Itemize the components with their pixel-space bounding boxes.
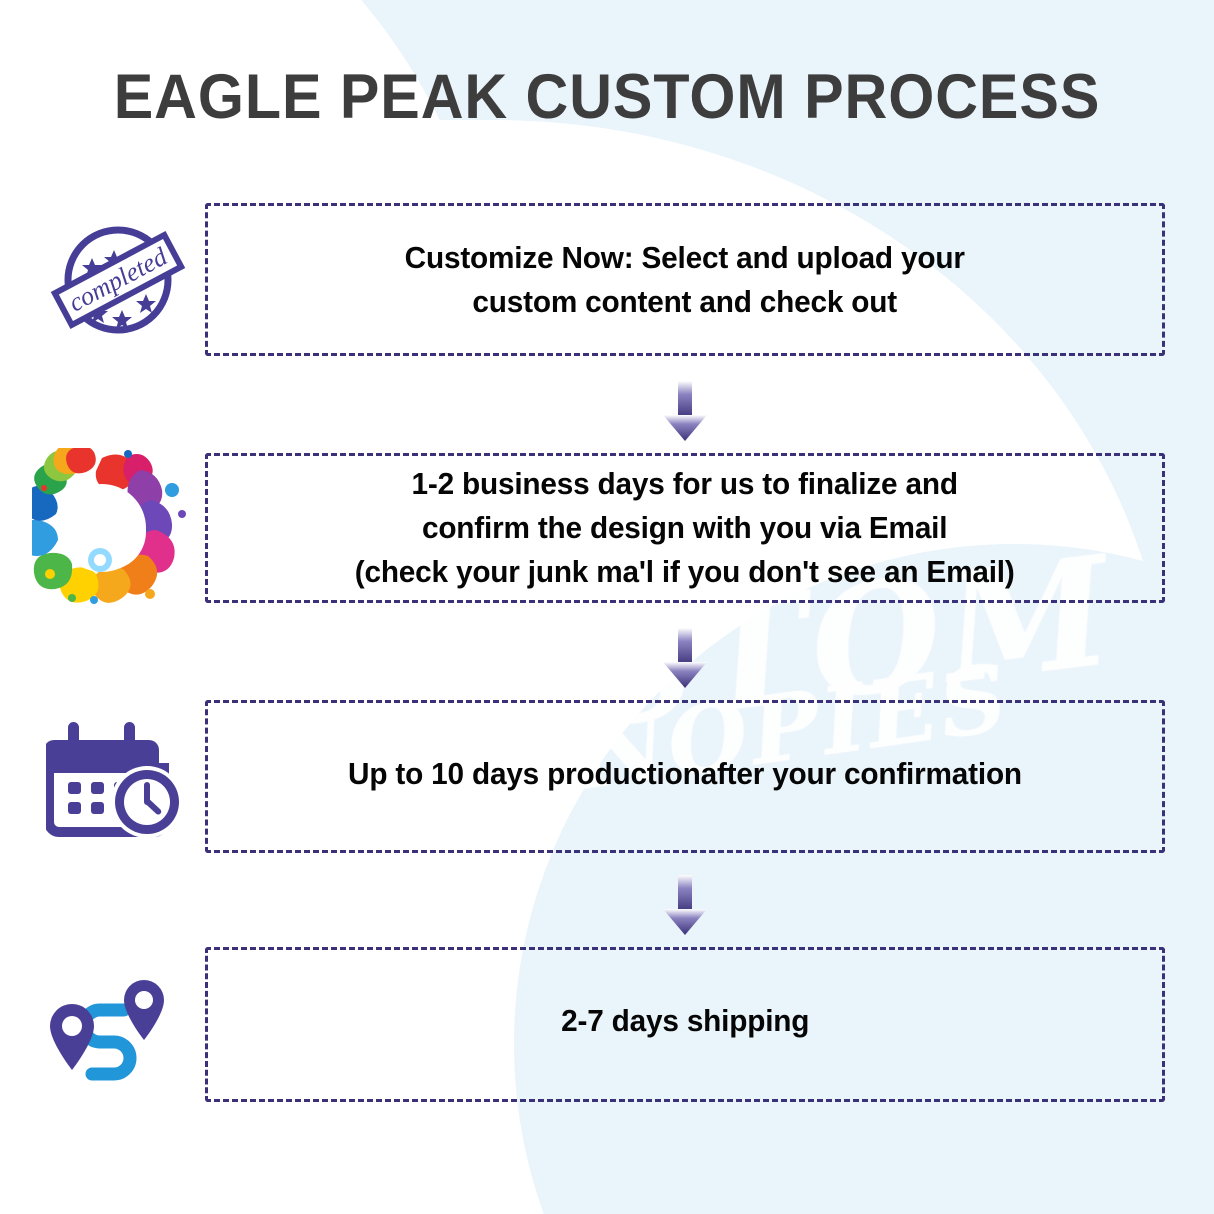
infographic-canvas: CUSTOM CANOPIES EAGLE PEAK CUSTOM PROCES… bbox=[0, 0, 1214, 1214]
step-3-box: Up to 10 days productionafter your confi… bbox=[205, 700, 1165, 853]
page-title: EAGLE PEAK CUSTOM PROCESS bbox=[36, 62, 1177, 132]
step-4-box: 2-7 days shipping bbox=[205, 947, 1165, 1102]
completed-stamp-icon: completed bbox=[48, 218, 188, 342]
paint-splatter-icon bbox=[32, 448, 204, 614]
step-4-text: 2-7 days shipping bbox=[544, 999, 827, 1043]
arrow-down-icon-2 bbox=[658, 628, 712, 688]
step-1-text: Customize Now: Select and upload your cu… bbox=[388, 236, 983, 324]
shipping-route-icon bbox=[44, 978, 184, 1090]
step-3-text: Up to 10 days productionafter your confi… bbox=[331, 752, 1039, 796]
step-2-box: 1-2 business days for us to finalize and… bbox=[205, 453, 1165, 603]
arrow-down-icon-1 bbox=[658, 381, 712, 441]
arrow-down-icon-3 bbox=[658, 875, 712, 935]
calendar-clock-icon bbox=[46, 712, 188, 838]
step-2-text: 1-2 business days for us to finalize and… bbox=[338, 462, 1032, 594]
step-1-box: Customize Now: Select and upload your cu… bbox=[205, 203, 1165, 356]
